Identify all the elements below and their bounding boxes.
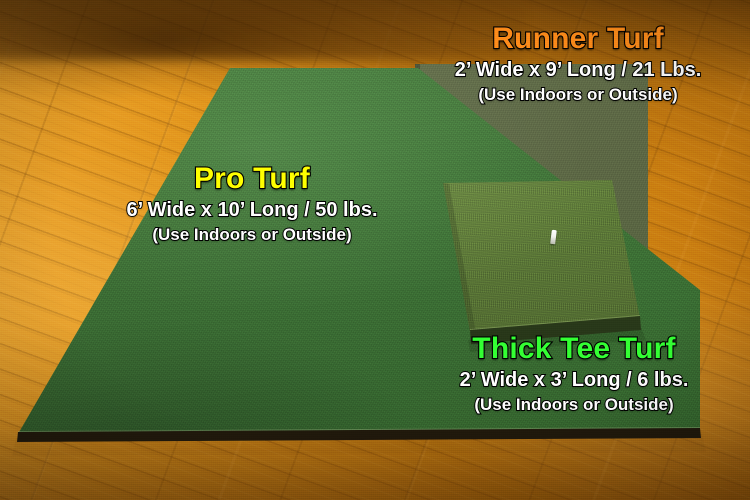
runner-turf-label: Runner Turf 2’ Wide x 9’ Long / 21 Lbs. …	[408, 24, 748, 103]
thick-tee-turf-title: Thick Tee Turf	[398, 334, 750, 364]
turf-comparison-photo: Runner Turf 2’ Wide x 9’ Long / 21 Lbs. …	[0, 0, 750, 500]
thick-tee-turf-usage: (Use Indoors or Outside)	[398, 396, 750, 413]
pro-turf-usage: (Use Indoors or Outside)	[92, 226, 412, 243]
thick-tee-turf-specs: 2’ Wide x 3’ Long / 6 lbs.	[398, 370, 750, 390]
pro-turf-label: Pro Turf 6’ Wide x 10’ Long / 50 lbs. (U…	[92, 164, 412, 243]
pro-turf-title: Pro Turf	[92, 164, 412, 194]
thick-tee-turf-label: Thick Tee Turf 2’ Wide x 3’ Long / 6 lbs…	[398, 334, 750, 413]
pro-turf-specs: 6’ Wide x 10’ Long / 50 lbs.	[92, 200, 412, 220]
runner-turf-title: Runner Turf	[408, 24, 748, 54]
runner-turf-specs: 2’ Wide x 9’ Long / 21 Lbs.	[408, 60, 748, 80]
runner-turf-usage: (Use Indoors or Outside)	[408, 86, 748, 103]
